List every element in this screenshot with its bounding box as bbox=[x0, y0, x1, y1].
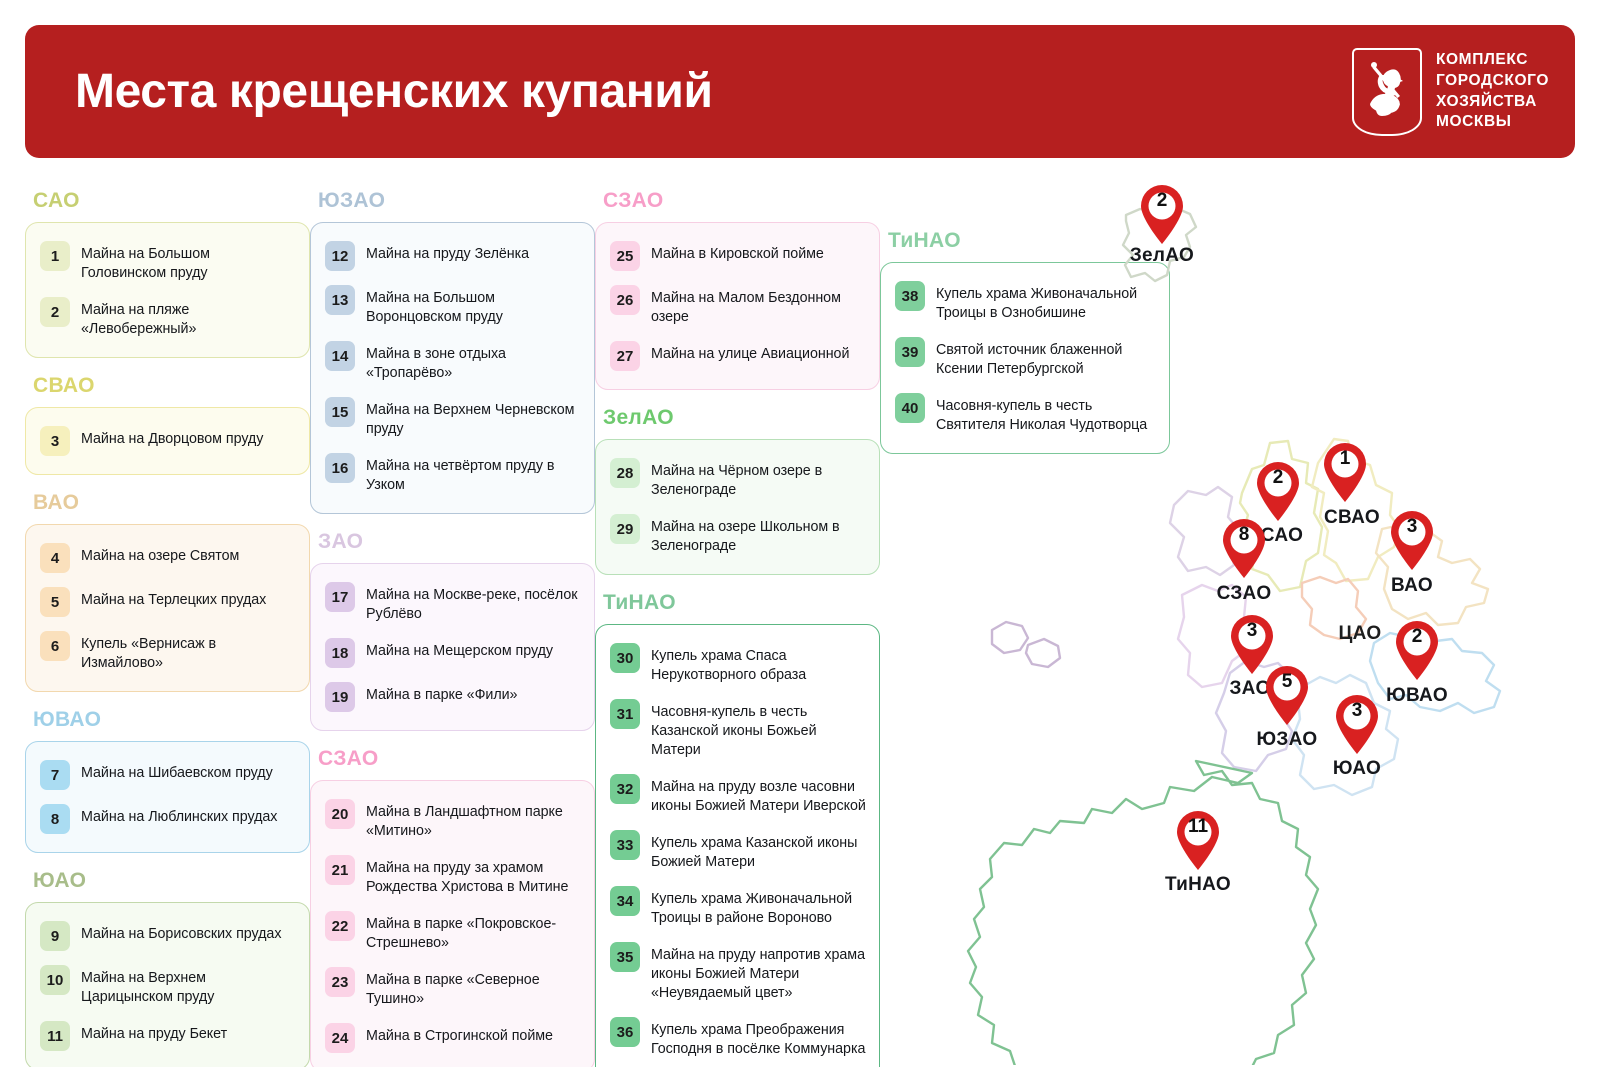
item-number-badge: 7 bbox=[40, 760, 70, 790]
district-group-card: 30Купель храма Спаса Нерукотворного обра… bbox=[595, 624, 880, 1067]
map-district-label: ВАО bbox=[1391, 575, 1433, 597]
item-number-badge: 30 bbox=[610, 643, 640, 673]
list-item[interactable]: 10Майна на Верхнем Царицынском пруду bbox=[36, 958, 297, 1014]
item-label: Майна на Шибаевском пруду bbox=[81, 760, 273, 783]
list-item[interactable]: 34Купель храма Живоначальной Троицы в ра… bbox=[606, 879, 867, 935]
item-label: Майна в зоне отдыха «Тропарёво» bbox=[366, 341, 582, 383]
district-group-card: 4Майна на озере Святом5Майна на Терлецки… bbox=[25, 524, 310, 692]
item-label: Майна на Люблинских прудах bbox=[81, 804, 277, 827]
district-group-title: СВАО bbox=[25, 367, 310, 407]
item-label: Майна на Дворцовом пруду bbox=[81, 426, 263, 449]
list-item[interactable]: 13Майна на Большом Воронцовском пруду bbox=[321, 278, 582, 334]
map-pin-count: 2 bbox=[1255, 467, 1301, 489]
district-group: ЗелАО28Майна на Чёрном озере в Зеленогра… bbox=[595, 399, 880, 575]
item-label: Майна в парке «Фили» bbox=[366, 682, 517, 705]
item-label: Майна на четвёртом пруду в Узком bbox=[366, 453, 582, 495]
item-number-badge: 36 bbox=[610, 1017, 640, 1047]
list-item[interactable]: 25Майна в Кировской пойме bbox=[606, 234, 867, 278]
map-region-tinao bbox=[968, 761, 1318, 1065]
item-label: Майна на Верхнем Царицынском пруду bbox=[81, 965, 297, 1007]
item-number-badge: 13 bbox=[325, 285, 355, 315]
map-district-label: САО bbox=[1261, 525, 1303, 547]
list-item[interactable]: 17Майна на Москве-реке, посёлок Рублёво bbox=[321, 575, 582, 631]
list-item[interactable]: 8Майна на Люблинских прудах bbox=[36, 797, 297, 841]
list-item[interactable]: 21Майна на пруду за храмом Рождества Хри… bbox=[321, 848, 582, 904]
map-pin-сао[interactable]: 2 bbox=[1255, 462, 1301, 522]
district-group-title: ВАО bbox=[25, 484, 310, 524]
item-number-badge: 40 bbox=[895, 393, 925, 423]
item-label: Майна в парке «Покровское-Стрешнево» bbox=[366, 911, 582, 953]
item-label: Майна на пруду Бекет bbox=[81, 1021, 227, 1044]
item-label: Майна на Малом Бездонном озере bbox=[651, 285, 867, 327]
list-item[interactable]: 35Майна на пруду напротив храма иконы Бо… bbox=[606, 935, 867, 1010]
column-2: ЮЗАО12Майна на пруду Зелёнка13Майна на Б… bbox=[310, 182, 595, 1067]
item-label: Майна на пруду возле часовни иконы Божие… bbox=[651, 774, 867, 816]
item-label: Майна на Москве-реке, посёлок Рублёво bbox=[366, 582, 582, 624]
item-number-badge: 10 bbox=[40, 965, 70, 995]
item-label: Майна на Верхнем Черневском пруду bbox=[366, 397, 582, 439]
map-district-label: ЗелАО bbox=[1130, 245, 1194, 267]
district-group-title: САО bbox=[25, 182, 310, 222]
list-item[interactable]: 1Майна на Большом Головинском пруду bbox=[36, 234, 297, 290]
column-1: САО1Майна на Большом Головинском пруду2М… bbox=[25, 182, 310, 1067]
map-pin-count: 2 bbox=[1394, 626, 1440, 648]
map-pin-юао[interactable]: 3 bbox=[1334, 695, 1380, 755]
map-pin-юзао[interactable]: 5 bbox=[1264, 666, 1310, 726]
item-number-badge: 27 bbox=[610, 341, 640, 371]
item-number-badge: 2 bbox=[40, 297, 70, 327]
list-item[interactable]: 31Часовня-купель в честь Казанской иконы… bbox=[606, 692, 867, 767]
list-item[interactable]: 19Майна в парке «Фили» bbox=[321, 675, 582, 719]
item-label: Майна на пруду Зелёнка bbox=[366, 241, 529, 264]
item-label: Майна на Большом Головинском пруду bbox=[81, 241, 297, 283]
district-group-title: ЮЗАО bbox=[310, 182, 595, 222]
item-number-badge: 14 bbox=[325, 341, 355, 371]
item-label: Майна на улице Авиационной bbox=[651, 341, 849, 364]
organization-logo: Комплекс городского хозяйства Москвы bbox=[1352, 48, 1549, 136]
item-number-badge: 21 bbox=[325, 855, 355, 885]
item-number-badge: 1 bbox=[40, 241, 70, 271]
map-district-label: ЮЗАО bbox=[1257, 729, 1318, 751]
map-district-label: ЦАО bbox=[1338, 623, 1381, 645]
district-group-title: ЗАО bbox=[310, 523, 595, 563]
list-item[interactable]: 5Майна на Терлецких прудах bbox=[36, 580, 297, 624]
list-item[interactable]: 9Майна на Борисовских прудах bbox=[36, 914, 297, 958]
list-item[interactable]: 12Майна на пруду Зелёнка bbox=[321, 234, 582, 278]
list-item[interactable]: 29Майна на озере Школьном в Зеленограде bbox=[606, 507, 867, 563]
moscow-coat-of-arms-icon bbox=[1352, 48, 1422, 136]
list-item[interactable]: 23Майна в парке «Северное Тушино» bbox=[321, 960, 582, 1016]
list-item[interactable]: 7Майна на Шибаевском пруду bbox=[36, 753, 297, 797]
district-group-card: 12Майна на пруду Зелёнка13Майна на Больш… bbox=[310, 222, 595, 514]
district-group: СЗАО20Майна в Ландшафтном парке «Митино»… bbox=[310, 740, 595, 1067]
item-label: Майна на Мещерском пруду bbox=[366, 638, 553, 661]
item-label: Майна в Ландшафтном парке «Митино» bbox=[366, 799, 582, 841]
district-group-card: 7Майна на Шибаевском пруду8Майна на Любл… bbox=[25, 741, 310, 853]
district-group-title: СЗАО bbox=[310, 740, 595, 780]
map-region-exclave-b bbox=[1026, 639, 1060, 667]
item-label: Майна на Чёрном озере в Зеленограде bbox=[651, 458, 867, 500]
item-label: Майна в Кировской пойме bbox=[651, 241, 824, 264]
item-label: Майна на Терлецких прудах bbox=[81, 587, 266, 610]
item-label: Купель храма Казанской иконы Божией Мате… bbox=[651, 830, 867, 872]
item-number-badge: 19 bbox=[325, 682, 355, 712]
item-number-badge: 9 bbox=[40, 921, 70, 951]
item-label: Майна на озере Святом bbox=[81, 543, 239, 566]
item-label: Купель храма Живоначальной Троицы в райо… bbox=[651, 886, 867, 928]
list-item[interactable]: 22Майна в парке «Покровское-Стрешнево» bbox=[321, 904, 582, 960]
list-item[interactable]: 3Майна на Дворцовом пруду bbox=[36, 419, 297, 463]
map-district-label: СВАО bbox=[1324, 507, 1380, 529]
map-pin-сзао[interactable]: 8 bbox=[1221, 519, 1267, 579]
item-label: Майна в парке «Северное Тушино» bbox=[366, 967, 582, 1009]
map-pin-вао[interactable]: 3 bbox=[1389, 511, 1435, 571]
item-number-badge: 11 bbox=[40, 1021, 70, 1051]
map-district-label: ТиНАО bbox=[1165, 874, 1231, 896]
map-district-label: СЗАО bbox=[1217, 583, 1272, 605]
item-number-badge: 26 bbox=[610, 285, 640, 315]
item-number-badge: 18 bbox=[325, 638, 355, 668]
item-number-badge: 23 bbox=[325, 967, 355, 997]
district-group-card: 28Майна на Чёрном озере в Зеленограде29М… bbox=[595, 439, 880, 575]
item-number-badge: 28 bbox=[610, 458, 640, 488]
item-number-badge: 16 bbox=[325, 453, 355, 483]
item-number-badge: 20 bbox=[325, 799, 355, 829]
item-label: Майна на озере Школьном в Зеленограде bbox=[651, 514, 867, 556]
district-group-card: 3Майна на Дворцовом пруду bbox=[25, 407, 310, 475]
item-number-badge: 29 bbox=[610, 514, 640, 544]
item-label: Купель храма Спаса Нерукотворного образа bbox=[651, 643, 867, 685]
item-label: Купель храма Преображения Господня в пос… bbox=[651, 1017, 867, 1059]
list-item[interactable]: 26Майна на Малом Бездонном озере bbox=[606, 278, 867, 334]
item-number-badge: 8 bbox=[40, 804, 70, 834]
district-group: СВАО3Майна на Дворцовом пруду bbox=[25, 367, 310, 475]
item-number-badge: 22 bbox=[325, 911, 355, 941]
list-item[interactable]: 27Майна на улице Авиационной bbox=[606, 334, 867, 378]
item-label: Часовня-купель в честь Казанской иконы Б… bbox=[651, 699, 867, 760]
district-group: ЮАО9Майна на Борисовских прудах10Майна н… bbox=[25, 862, 310, 1067]
map-pin-ювао[interactable]: 2 bbox=[1394, 621, 1440, 681]
item-number-badge: 38 bbox=[895, 281, 925, 311]
item-label: Майна на пруду напротив храма иконы Божи… bbox=[651, 942, 867, 1003]
map-pin-count: 8 bbox=[1221, 524, 1267, 546]
district-group-card: 17Майна на Москве-реке, посёлок Рублёво1… bbox=[310, 563, 595, 731]
map-pin-count: 3 bbox=[1334, 700, 1380, 722]
list-item[interactable]: 28Майна на Чёрном озере в Зеленограде bbox=[606, 451, 867, 507]
item-number-badge: 4 bbox=[40, 543, 70, 573]
district-group-card: 20Майна в Ландшафтном парке «Митино»21Ма… bbox=[310, 780, 595, 1067]
district-group-card: 1Майна на Большом Головинском пруду2Майн… bbox=[25, 222, 310, 358]
list-item[interactable]: 2Майна на пляже «Левобережный» bbox=[36, 290, 297, 346]
item-label: Майна в Строгинской пойме bbox=[366, 1023, 553, 1046]
page-title: Места крещенских купаний bbox=[75, 64, 713, 119]
district-group: ВАО4Майна на озере Святом5Майна на Терле… bbox=[25, 484, 310, 692]
district-group-card: 25Майна в Кировской пойме26Майна на Мало… bbox=[595, 222, 880, 390]
map-district-label: ЮВАО bbox=[1386, 685, 1448, 707]
item-label: Майна на Борисовских прудах bbox=[81, 921, 281, 944]
list-item[interactable]: 30Купель храма Спаса Нерукотворного обра… bbox=[606, 636, 867, 692]
item-number-badge: 3 bbox=[40, 426, 70, 456]
item-number-badge: 31 bbox=[610, 699, 640, 729]
item-number-badge: 33 bbox=[610, 830, 640, 860]
column-3: СЗАО25Майна в Кировской пойме26Майна на … bbox=[595, 182, 880, 1067]
map-pin-count: 5 bbox=[1264, 671, 1310, 693]
list-item[interactable]: 32Майна на пруду возле часовни иконы Бож… bbox=[606, 767, 867, 823]
district-group: САО1Майна на Большом Головинском пруду2М… bbox=[25, 182, 310, 358]
map-region-exclave-a bbox=[992, 622, 1028, 653]
map-pin-count: 11 bbox=[1175, 816, 1221, 838]
moscow-districts-map: 2ЗелАО2САО1СВАО3ВАО8СЗАО3ЗАО5ЮЗАО3ЮАО2ЮВ… bbox=[930, 175, 1600, 1065]
page-header: Места крещенских купаний bbox=[25, 25, 1575, 158]
item-label: Майна на пруду за храмом Рождества Христ… bbox=[366, 855, 582, 897]
district-group-title: ЮВАО bbox=[25, 701, 310, 741]
list-item[interactable]: 36Купель храма Преображения Господня в п… bbox=[606, 1010, 867, 1066]
list-item[interactable]: 18Майна на Мещерском пруду bbox=[321, 631, 582, 675]
organization-name: Комплекс городского хозяйства Москвы bbox=[1436, 50, 1549, 132]
item-label: Купель «Вернисаж в Измайлово» bbox=[81, 631, 297, 673]
district-group-title: ЮАО bbox=[25, 862, 310, 902]
district-group: ЗАО17Майна на Москве-реке, посёлок Рублё… bbox=[310, 523, 595, 731]
list-item[interactable]: 24Майна в Строгинской пойме bbox=[321, 1016, 582, 1060]
infographic-page: Места крещенских купаний bbox=[0, 0, 1600, 1067]
district-group-card: 9Майна на Борисовских прудах10Майна на В… bbox=[25, 902, 310, 1067]
item-number-badge: 35 bbox=[610, 942, 640, 972]
list-item[interactable]: 14Майна в зоне отдыха «Тропарёво» bbox=[321, 334, 582, 390]
district-group-title: ТиНАО bbox=[595, 584, 880, 624]
map-district-label: ЮАО bbox=[1333, 758, 1381, 780]
district-group: ЮЗАО12Майна на пруду Зелёнка13Майна на Б… bbox=[310, 182, 595, 514]
item-number-badge: 6 bbox=[40, 631, 70, 661]
item-number-badge: 34 bbox=[610, 886, 640, 916]
list-item[interactable]: 6Купель «Вернисаж в Измайлово» bbox=[36, 624, 297, 680]
district-group: ТиНАО30Купель храма Спаса Нерукотворного… bbox=[595, 584, 880, 1067]
map-pin-count: 3 bbox=[1389, 516, 1435, 538]
item-number-badge: 17 bbox=[325, 582, 355, 612]
item-number-badge: 24 bbox=[325, 1023, 355, 1053]
list-item[interactable]: 11Майна на пруду Бекет bbox=[36, 1014, 297, 1058]
item-number-badge: 25 bbox=[610, 241, 640, 271]
item-number-badge: 32 bbox=[610, 774, 640, 804]
item-number-badge: 5 bbox=[40, 587, 70, 617]
map-pin-тинао[interactable]: 11 bbox=[1175, 811, 1221, 871]
item-number-badge: 12 bbox=[325, 241, 355, 271]
list-item[interactable]: 16Майна на четвёртом пруду в Узком bbox=[321, 446, 582, 502]
district-group-title: СЗАО bbox=[595, 182, 880, 222]
map-pin-count: 2 bbox=[1139, 190, 1185, 212]
list-item[interactable]: 15Майна на Верхнем Черневском пруду bbox=[321, 390, 582, 446]
list-item[interactable]: 4Майна на озере Святом bbox=[36, 536, 297, 580]
item-label: Майна на пляже «Левобережный» bbox=[81, 297, 297, 339]
map-pin-count: 3 bbox=[1229, 620, 1275, 642]
item-number-badge: 39 bbox=[895, 337, 925, 367]
district-group-title: ЗелАО bbox=[595, 399, 880, 439]
item-label: Майна на Большом Воронцовском пруду bbox=[366, 285, 582, 327]
list-item[interactable]: 33Купель храма Казанской иконы Божией Ма… bbox=[606, 823, 867, 879]
map-pin-count: 1 bbox=[1322, 448, 1368, 470]
district-group: ЮВАО7Майна на Шибаевском пруду8Майна на … bbox=[25, 701, 310, 853]
list-item[interactable]: 20Майна в Ландшафтном парке «Митино» bbox=[321, 792, 582, 848]
district-group: СЗАО25Майна в Кировской пойме26Майна на … bbox=[595, 182, 880, 390]
map-pin-свао[interactable]: 1 bbox=[1322, 443, 1368, 503]
map-pin-зелао[interactable]: 2 bbox=[1139, 185, 1185, 245]
item-number-badge: 15 bbox=[325, 397, 355, 427]
